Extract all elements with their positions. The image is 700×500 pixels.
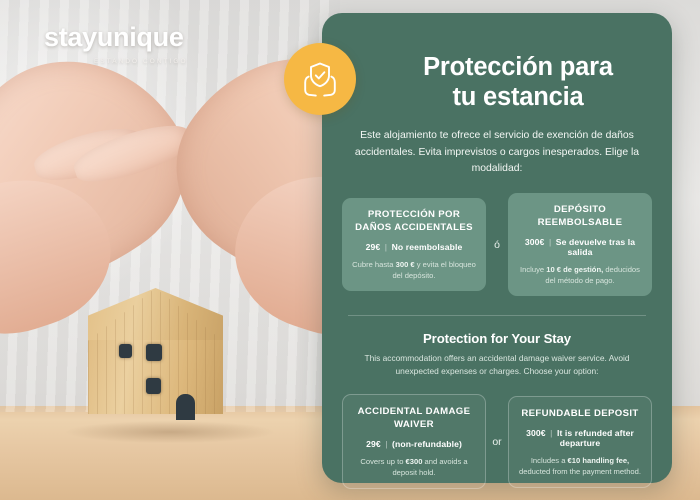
option-card-accidental-damage-es[interactable]: PROTECCIÓN POR DAÑOS ACCIDENTALES 29€ | … [342, 198, 486, 291]
note-pre: Covers up to [360, 457, 405, 466]
option-price: 29€ | No reembolsable [351, 242, 477, 252]
page-title-line-2: tu estancia [384, 83, 652, 113]
option-title: ACCIDENTAL DAMAGE WAIVER [352, 406, 476, 432]
option-terms: (non-refundable) [392, 439, 462, 449]
option-title: REFUNDABLE DEPOSIT [518, 408, 642, 421]
logo-tagline: ESTANDO CONTIGO [94, 58, 234, 65]
english-description: This accommodation offers an accidental … [354, 352, 640, 378]
option-terms: Se devuelve tras la salida [556, 237, 635, 257]
note-pre: Incluye [520, 265, 546, 274]
english-options: ACCIDENTAL DAMAGE WAIVER 29€ | (non-refu… [342, 394, 652, 489]
option-price-amount: 29€ [366, 242, 381, 252]
option-separator-es: ó [486, 239, 508, 251]
house-window [119, 344, 132, 358]
protection-panel: Protección para tu estancia Este alojami… [322, 13, 672, 483]
option-card-refundable-deposit-en[interactable]: REFUNDABLE DEPOSIT 300€ | It is refunded… [508, 396, 652, 488]
price-separator: | [383, 439, 389, 449]
note-strong: 10 € de gestión, [546, 265, 603, 274]
page-title-line-1: Protección para [384, 53, 652, 83]
shield-check-in-hands-icon [284, 43, 356, 115]
option-separator-en: or [486, 436, 508, 448]
option-price: 29€ | (non-refundable) [352, 439, 476, 449]
spanish-description: Este alojamiento te ofrece el servicio d… [346, 128, 648, 177]
note-pre: Includes a [531, 456, 568, 465]
option-title: PROTECCIÓN POR DAÑOS ACCIDENTALES [351, 209, 477, 235]
screenshot-canvas: stayunique ESTANDO CONTIGO Protección pa… [0, 0, 700, 500]
section-divider [348, 315, 646, 316]
price-separator: | [383, 242, 389, 252]
page-title: Protección para tu estancia [342, 53, 652, 112]
option-price-amount: 29€ [366, 439, 381, 449]
house-window [146, 378, 161, 394]
option-note: Covers up to €300 and avoids a deposit h… [352, 456, 476, 478]
logo-word-unique: unique [97, 22, 184, 52]
option-terms: It is refunded after departure [557, 428, 634, 448]
english-section-title: Protection for Your Stay [342, 331, 652, 346]
option-note: Cubre hasta 300 € y evita el bloqueo del… [351, 259, 477, 281]
house-window [146, 344, 162, 361]
option-note: Includes a €10 handling fee, deducted fr… [518, 455, 642, 477]
house-door [176, 394, 195, 420]
option-card-accidental-damage-en[interactable]: ACCIDENTAL DAMAGE WAIVER 29€ | (non-refu… [342, 394, 486, 489]
price-separator: | [547, 237, 553, 247]
option-price-amount: 300€ [525, 237, 545, 247]
spanish-options: PROTECCIÓN POR DAÑOS ACCIDENTALES 29€ | … [342, 193, 652, 296]
option-price: 300€ | It is refunded after departure [518, 428, 642, 448]
note-strong: €300 [406, 457, 423, 466]
logo-wordmark: stayunique [44, 24, 234, 51]
note-pre: Cubre hasta [352, 260, 395, 269]
option-price-amount: 300€ [526, 428, 546, 438]
logo-word-stay: stay [44, 22, 97, 52]
brand-logo: stayunique ESTANDO CONTIGO [44, 24, 234, 65]
option-terms: No reembolsable [392, 242, 463, 252]
note-strong: €10 handling fee, [568, 456, 630, 465]
option-title: DEPÓSITO REEMBOLSABLE [517, 204, 643, 230]
note-strong: 300 € [396, 260, 415, 269]
price-separator: | [548, 428, 554, 438]
note-post: deducted from the payment method. [519, 467, 641, 476]
wooden-toy-house [88, 288, 223, 414]
option-price: 300€ | Se devuelve tras la salida [517, 237, 643, 257]
option-card-refundable-deposit-es[interactable]: DEPÓSITO REEMBOLSABLE 300€ | Se devuelve… [508, 193, 652, 296]
option-note: Incluye 10 € de gestión, deducidos del m… [517, 264, 643, 286]
